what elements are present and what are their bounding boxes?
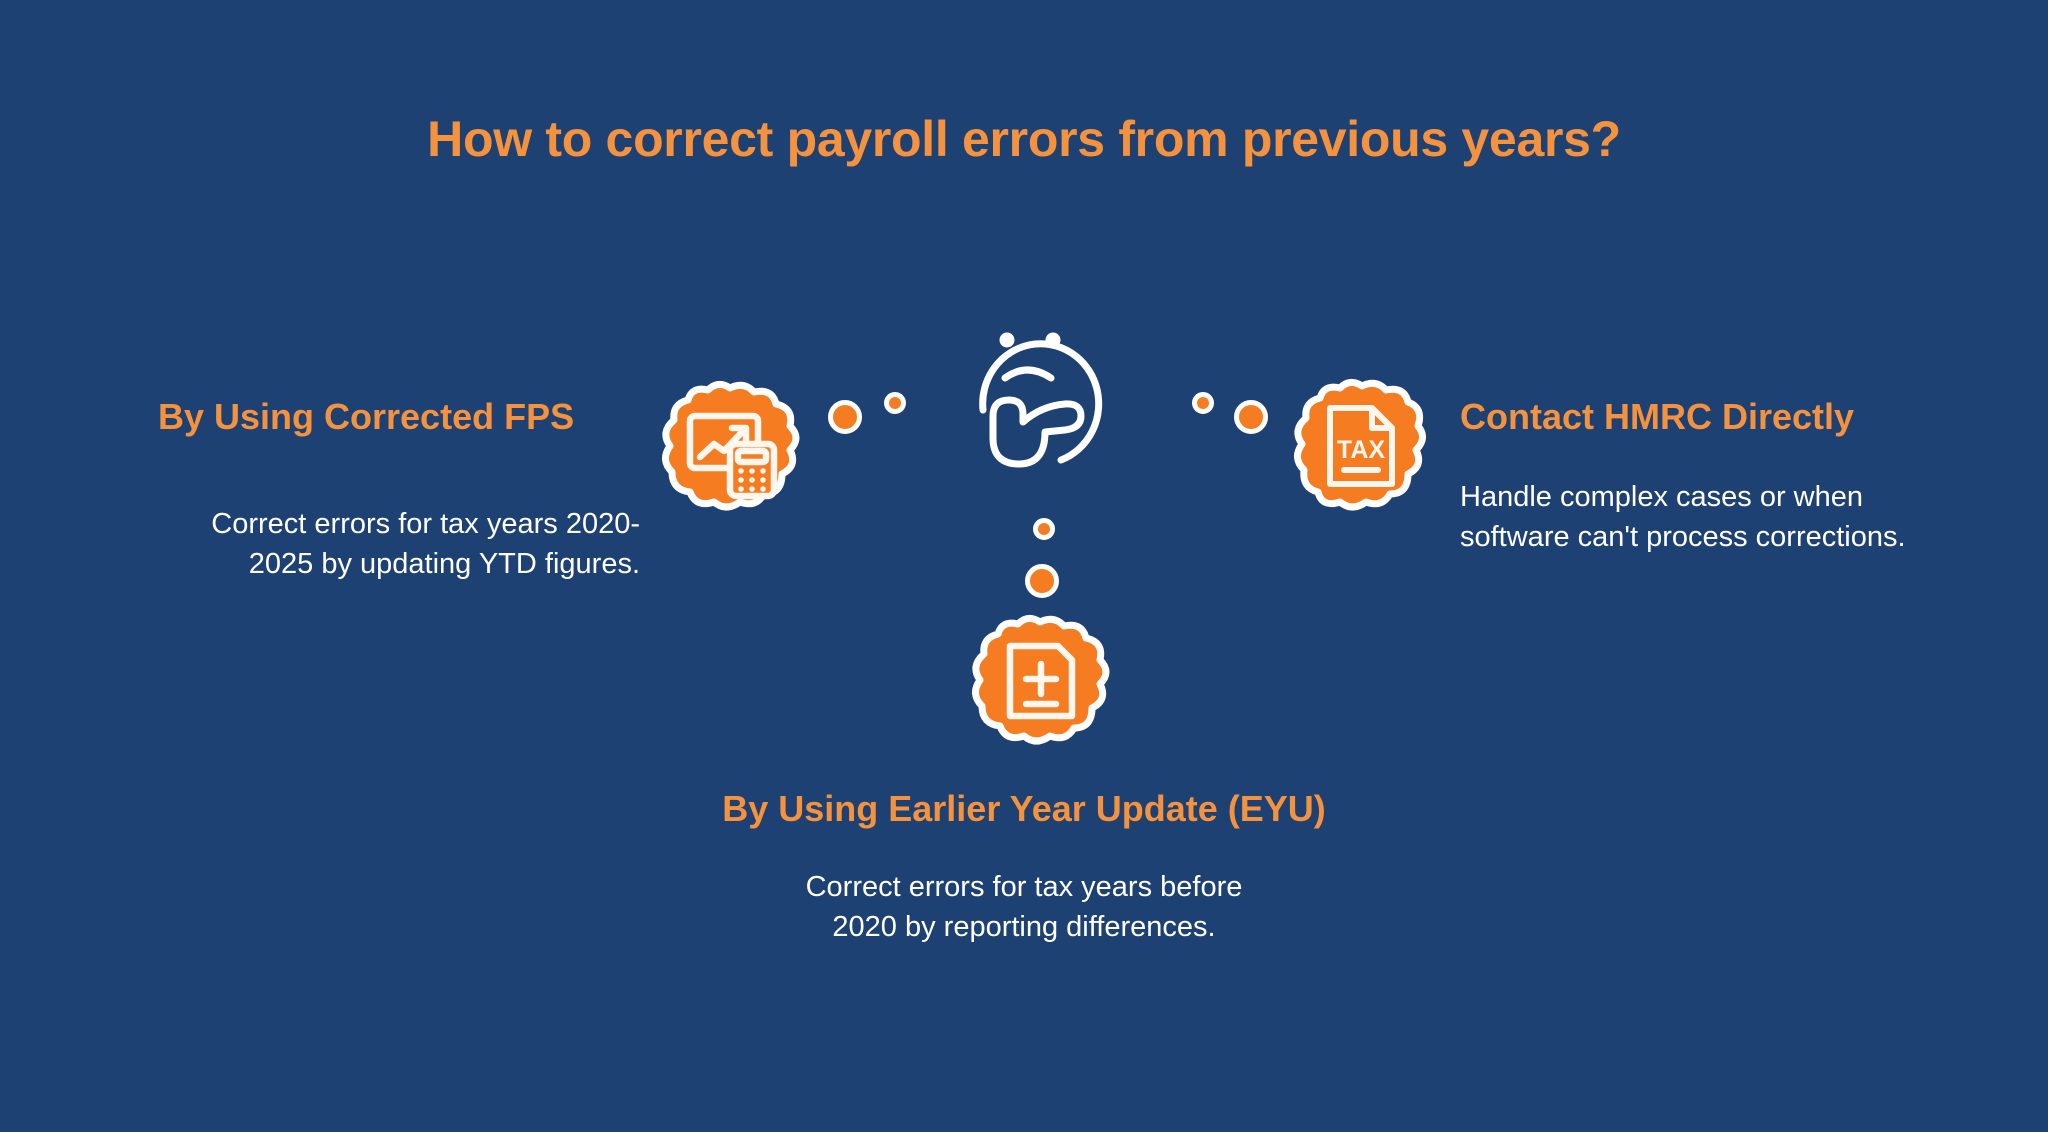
face-eye-right bbox=[1046, 333, 1061, 348]
plus-minus-document-icon bbox=[972, 616, 1108, 746]
body-earlier-year-update: Correct errors for tax years before 2020… bbox=[804, 868, 1244, 947]
connector-dot-right-small bbox=[1192, 392, 1214, 414]
heading-earlier-year-update: By Using Earlier Year Update (EYU) bbox=[0, 788, 2048, 830]
connector-dot-left-large bbox=[828, 400, 862, 434]
body-corrected-fps: Correct errors for tax years 2020-2025 b… bbox=[180, 505, 640, 584]
connector-dot-right-large bbox=[1234, 400, 1268, 434]
face-eye-left bbox=[1000, 333, 1015, 348]
page-title: How to correct payroll errors from previ… bbox=[0, 110, 2048, 168]
infographic-canvas: How to correct payroll errors from previ… bbox=[0, 0, 2048, 1132]
connector-dot-bottom-small bbox=[1033, 518, 1055, 540]
connector-dot-bottom-large bbox=[1025, 564, 1059, 598]
tax-label: TAX bbox=[1337, 436, 1385, 464]
body-contact-hmrc: Handle complex cases or when software ca… bbox=[1460, 478, 1940, 557]
connector-dot-left-small bbox=[884, 392, 906, 414]
heading-corrected-fps: By Using Corrected FPS bbox=[158, 396, 574, 438]
tax-document-icon: TAX bbox=[1296, 380, 1426, 512]
heading-contact-hmrc: Contact HMRC Directly bbox=[1460, 396, 1854, 438]
thinking-face-icon bbox=[965, 288, 1115, 478]
chart-calculator-icon bbox=[662, 382, 802, 512]
